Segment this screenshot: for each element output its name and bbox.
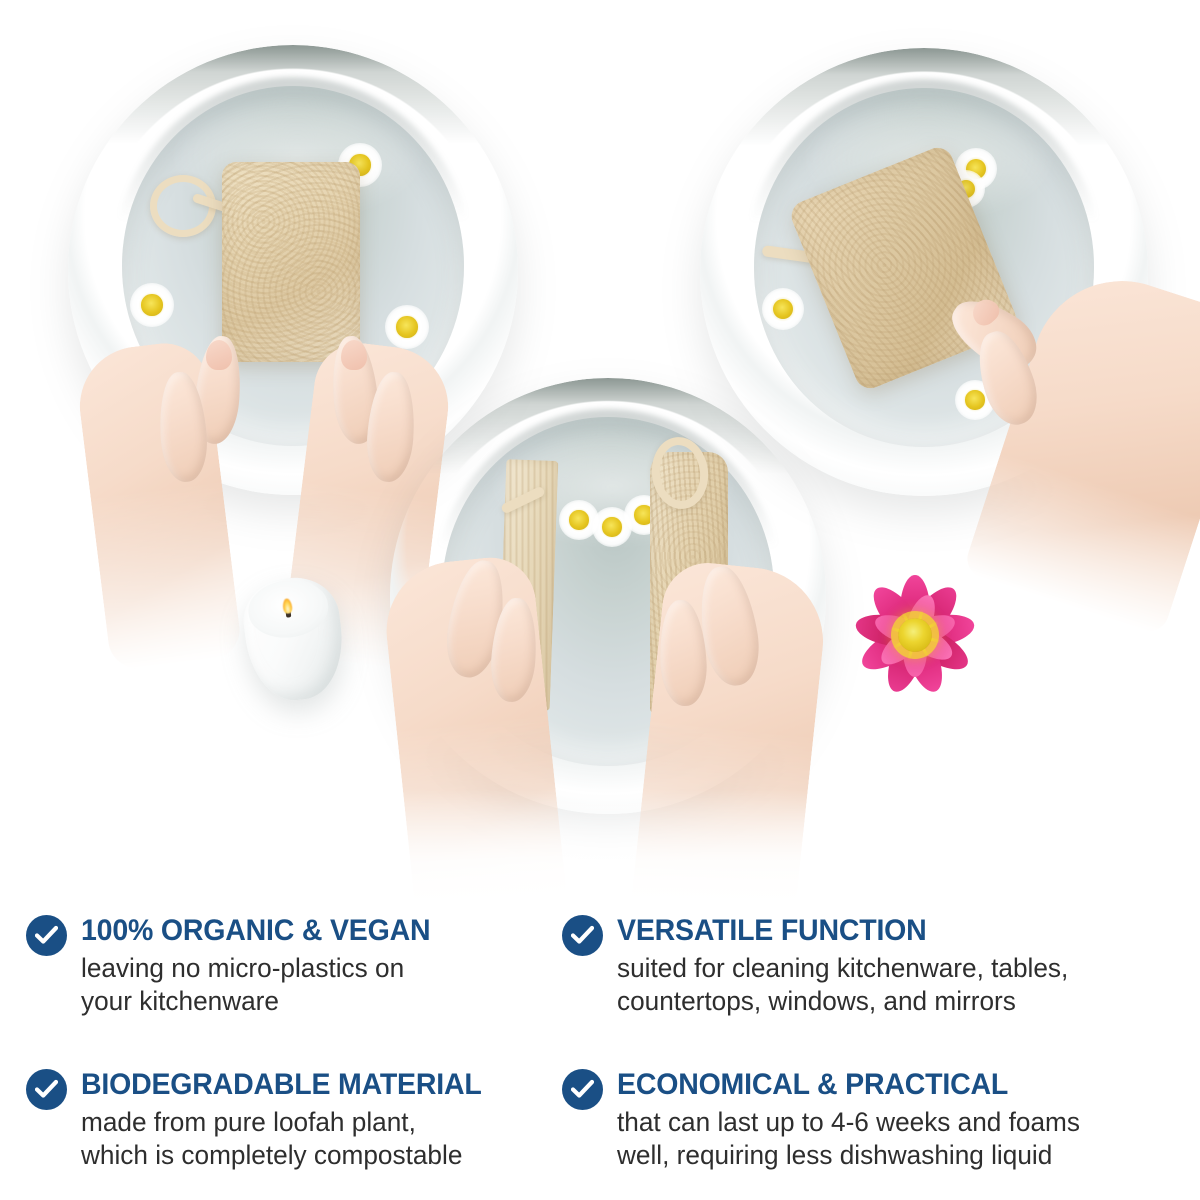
floating-daisy (130, 283, 174, 327)
feature-text: VERSATILE FUNCTION suited for cleaning k… (617, 914, 1082, 1018)
lotus-center (898, 618, 932, 652)
feature-description: made from pure loofah plant, which is co… (81, 1106, 490, 1172)
feature-description: leaving no micro-plastics on your kitche… (81, 952, 438, 1018)
feature-title: ECONOMICAL & PRACTICAL (617, 1068, 1070, 1102)
check-circle-icon (26, 1069, 67, 1110)
white-pillar-candle (239, 573, 349, 706)
feature-text: BIODEGRADABLE MATERIAL made from pure lo… (81, 1068, 503, 1172)
check-circle-icon (26, 915, 67, 956)
check-circle-icon (562, 915, 603, 956)
feature-description: suited for cleaning kitchenware, tables,… (617, 952, 1068, 1018)
feature-title: VERSATILE FUNCTION (617, 914, 1059, 948)
feature-list: 100% ORGANIC & VEGAN leaving no micro-pl… (0, 900, 1200, 1200)
floating-daisy (762, 288, 804, 330)
right-fingernail (341, 340, 367, 370)
pink-lotus-flower (855, 580, 975, 690)
feature-description: that can last up to 4-6 weeks and foams … (617, 1106, 1080, 1172)
loofah-pad-dry (222, 162, 360, 362)
product-infographic: 100% ORGANIC & VEGAN leaving no micro-pl… (0, 0, 1200, 1200)
feature-item-economical-practical: ECONOMICAL & PRACTICAL that can last up … (562, 1068, 1182, 1172)
left-fingernail (206, 340, 232, 370)
feature-item-biodegradable-material: BIODEGRADABLE MATERIAL made from pure lo… (26, 1068, 566, 1172)
check-circle-icon (562, 1069, 603, 1110)
feature-item-versatile-function: VERSATILE FUNCTION suited for cleaning k… (562, 914, 1182, 1018)
feature-text: ECONOMICAL & PRACTICAL that can last up … (617, 1068, 1094, 1172)
feature-item-organic-vegan: 100% ORGANIC & VEGAN leaving no micro-pl… (26, 914, 556, 1018)
feature-title: BIODEGRADABLE MATERIAL (81, 1068, 482, 1102)
feature-text: 100% ORGANIC & VEGAN leaving no micro-pl… (81, 914, 449, 1018)
feature-title: 100% ORGANIC & VEGAN (81, 914, 430, 948)
floating-daisy (385, 305, 429, 349)
photo-collage (0, 0, 1200, 905)
